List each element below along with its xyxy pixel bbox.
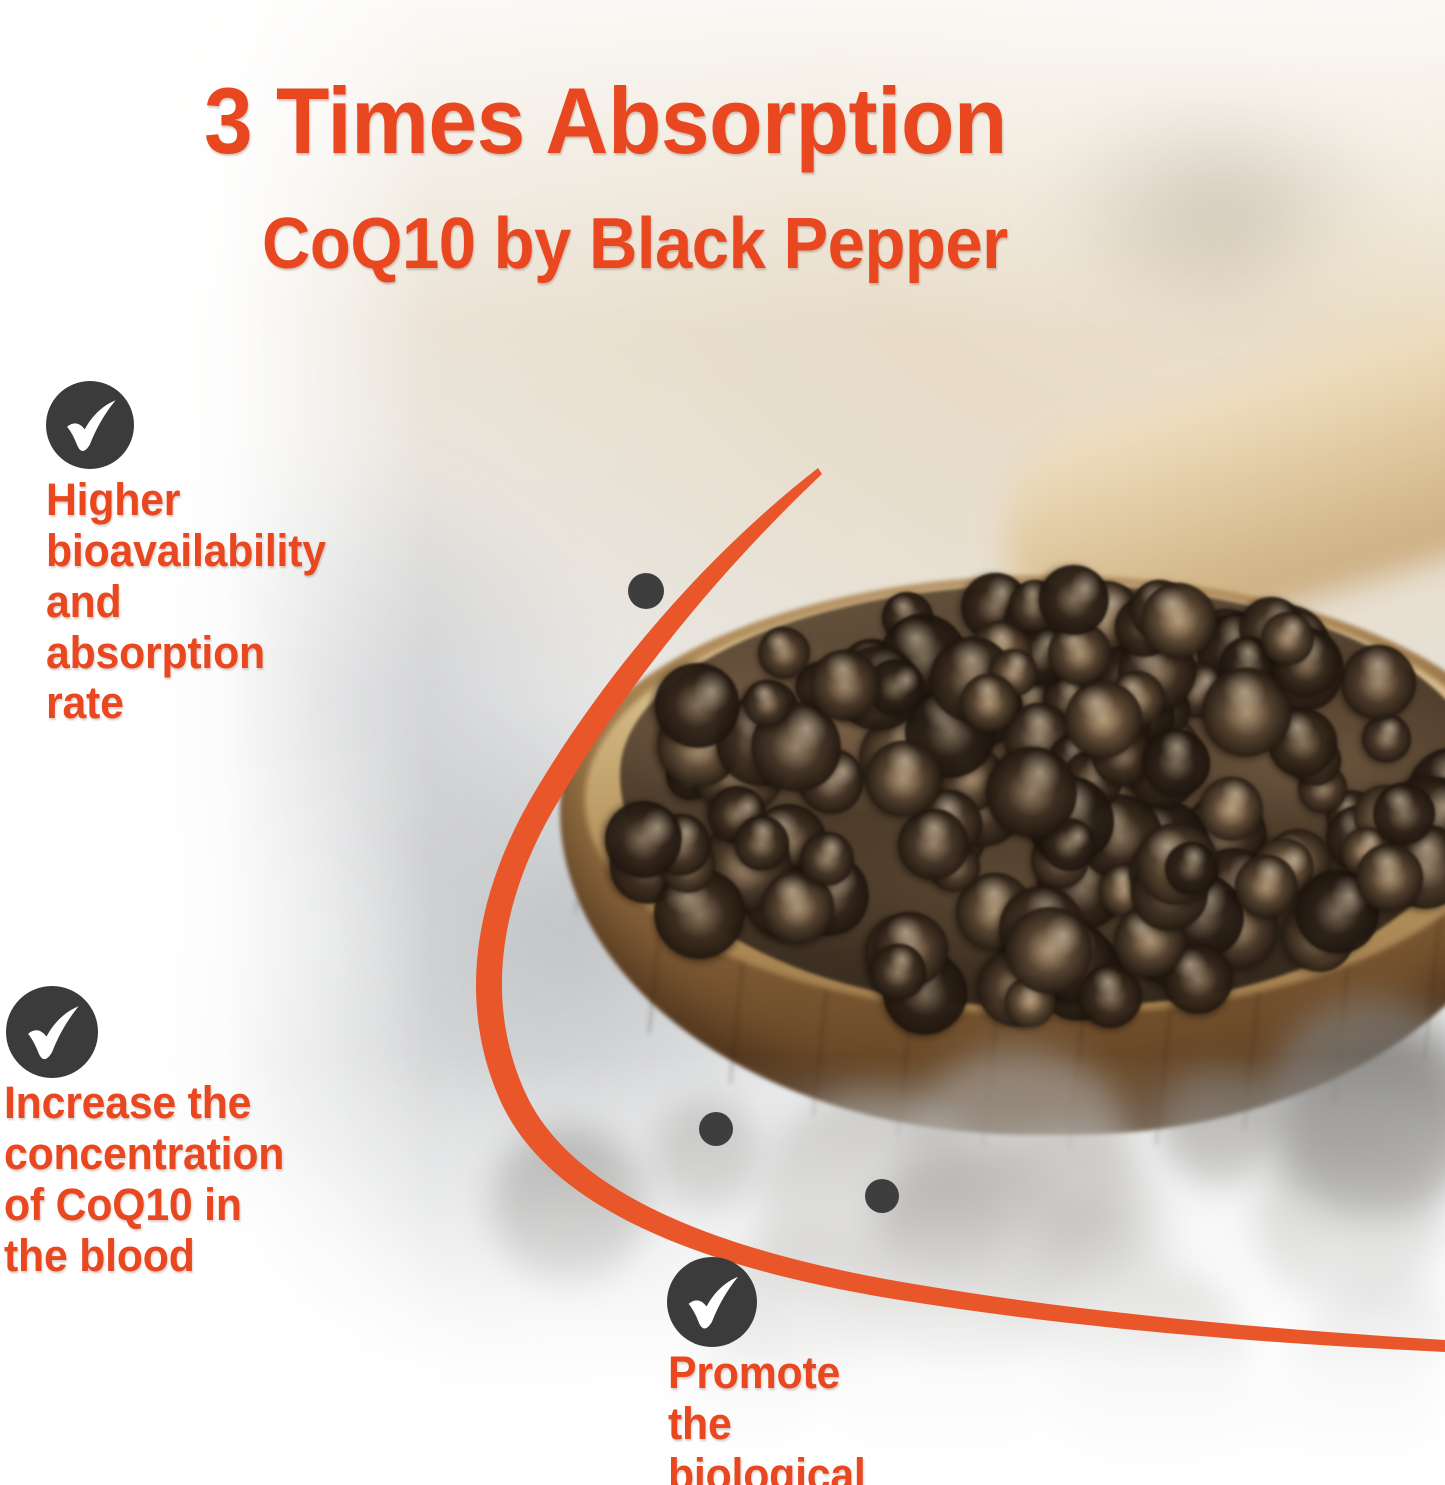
curve-marker-3 (865, 1179, 899, 1213)
benefit-label: Promote the biological activity of CoQ10 (668, 1348, 866, 1485)
benefit-label: Increase the concentration of CoQ10 in t… (4, 1078, 284, 1281)
infographic-canvas: 3 Times Absorption CoQ10 by Black Pepper… (0, 0, 1445, 1485)
curve-marker-1 (628, 573, 664, 609)
curve-marker-2 (699, 1112, 733, 1146)
benefit-label: Higher bioavailability and absorption ra… (46, 475, 326, 729)
orange-curve-swoosh (476, 468, 1445, 1352)
check-glyph (46, 381, 134, 469)
check-circle-icon (667, 1257, 757, 1347)
check-circle-icon (6, 986, 98, 1078)
check-glyph (667, 1257, 757, 1347)
check-circle-icon (46, 381, 134, 469)
page-subtitle: CoQ10 by Black Pepper (262, 208, 1008, 280)
check-glyph (6, 986, 98, 1078)
page-title: 3 Times Absorption (204, 74, 1007, 168)
